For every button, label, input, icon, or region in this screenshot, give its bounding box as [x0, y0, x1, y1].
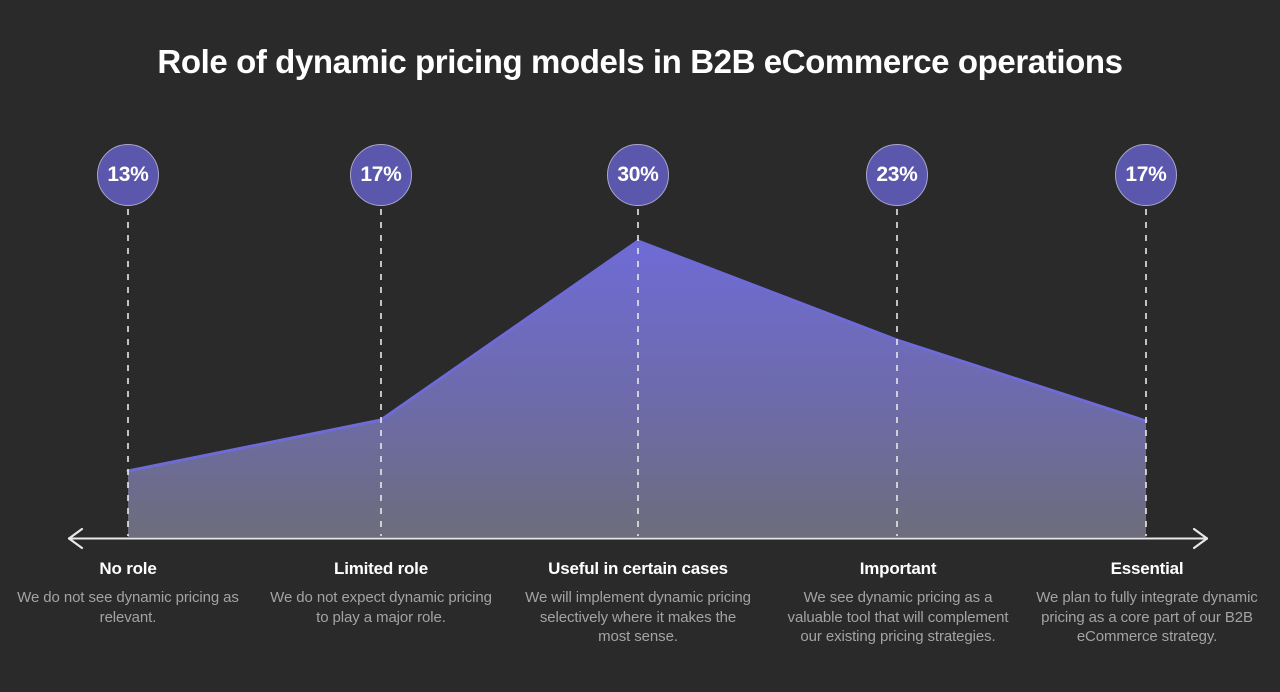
- infographic-root: Role of dynamic pricing models in B2B eC…: [0, 0, 1280, 692]
- category-description-useful-in-certain-cases: We will implement dynamic pricing select…: [522, 588, 754, 647]
- category-column-limited-role: Limited role We do not expect dynamic pr…: [265, 558, 497, 627]
- value-bubble-limited-role: 17%: [350, 144, 412, 206]
- category-description-important: We see dynamic pricing as a valuable too…: [782, 588, 1014, 647]
- value-bubble-important: 23%: [866, 144, 928, 206]
- category-column-essential: Essential We plan to fully integrate dyn…: [1031, 558, 1263, 647]
- value-bubble-no-role: 13%: [97, 144, 159, 206]
- category-labels-row: No role We do not see dynamic pricing as…: [0, 558, 1280, 692]
- category-column-useful-in-certain-cases: Useful in certain cases We will implemen…: [522, 558, 754, 647]
- category-title-essential: Essential: [1031, 558, 1263, 580]
- value-bubble-useful-in-certain-cases: 30%: [607, 144, 669, 206]
- category-description-limited-role: We do not expect dynamic pricing to play…: [265, 588, 497, 627]
- area-fill: [128, 241, 1146, 537]
- category-title-useful-in-certain-cases: Useful in certain cases: [522, 558, 754, 580]
- category-column-important: Important We see dynamic pricing as a va…: [782, 558, 1014, 647]
- category-description-no-role: We do not see dynamic pricing as relevan…: [12, 588, 244, 627]
- category-description-essential: We plan to fully integrate dynamic prici…: [1031, 588, 1263, 647]
- category-title-important: Important: [782, 558, 1014, 580]
- category-column-no-role: No role We do not see dynamic pricing as…: [12, 558, 244, 627]
- category-title-limited-role: Limited role: [265, 558, 497, 580]
- value-bubble-essential: 17%: [1115, 144, 1177, 206]
- category-title-no-role: No role: [12, 558, 244, 580]
